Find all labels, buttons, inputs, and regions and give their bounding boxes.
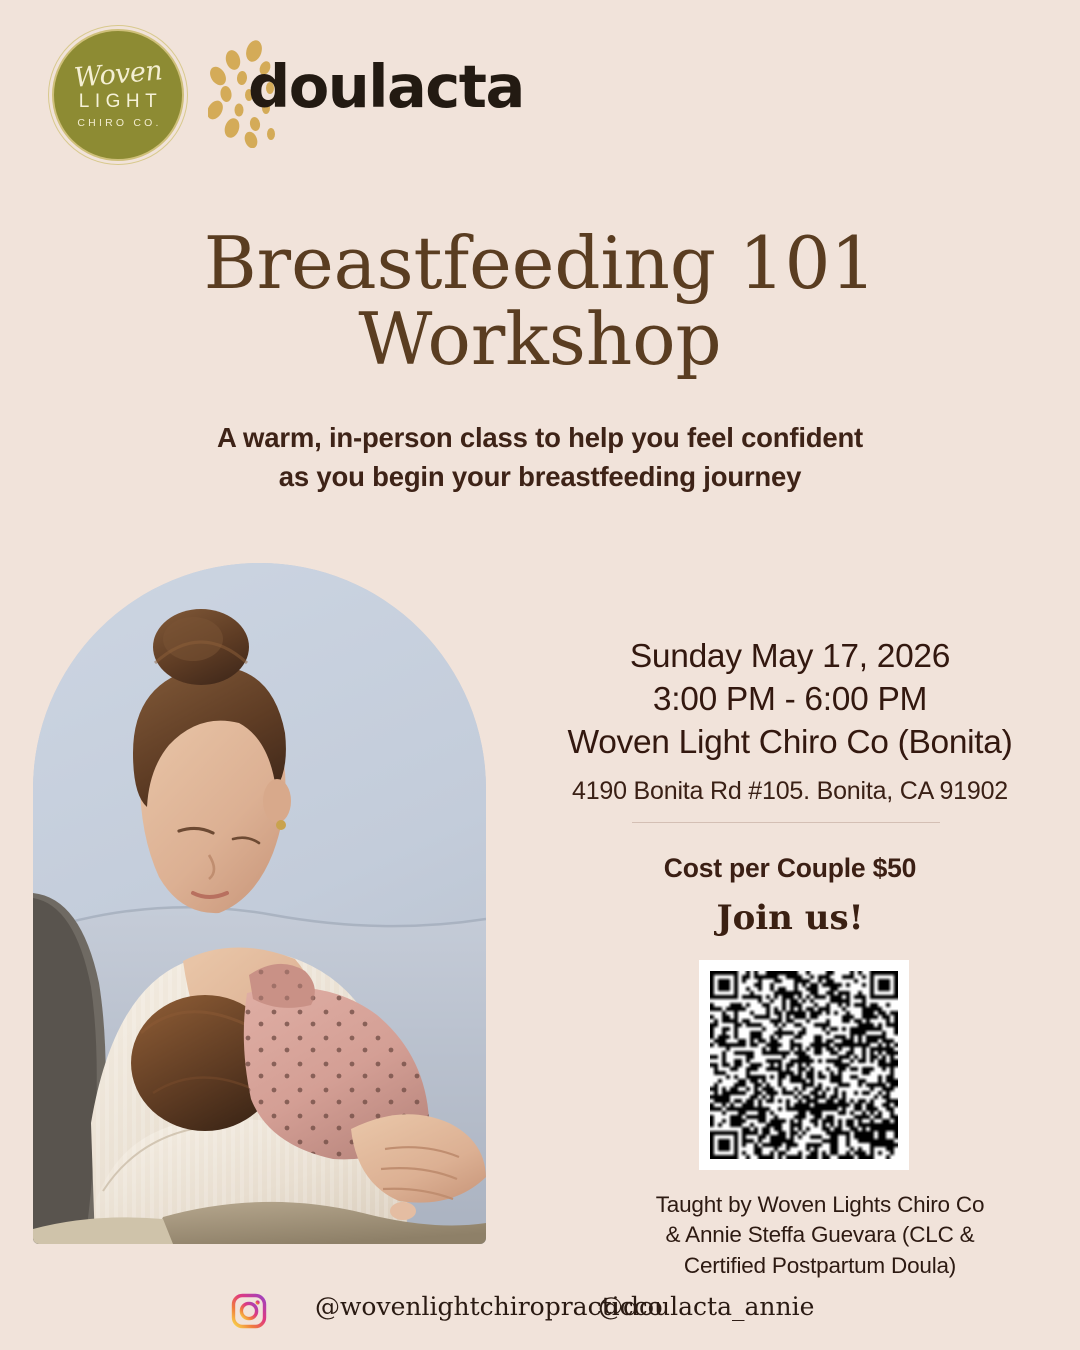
header: Woven LIGHT CHIRO CO.: [0, 0, 1080, 185]
instagram-handle-doulacta[interactable]: @doulacta_annie: [598, 1292, 814, 1321]
cost-label: Cost per Couple $50: [560, 853, 1020, 884]
title-line-1: Breastfeeding 101: [0, 226, 1080, 302]
flyer-root: Woven LIGHT CHIRO CO.: [0, 0, 1080, 1350]
credits-line-2: & Annie Steffa Guevara (CLC &: [600, 1220, 1040, 1250]
qr-code-canvas[interactable]: [710, 971, 898, 1159]
credits-line-3: Certified Postpartum Doula): [600, 1251, 1040, 1281]
hero-photo: [33, 563, 486, 1244]
qr-code[interactable]: [699, 960, 909, 1170]
event-time: 3:00 PM - 6:00 PM: [560, 679, 1020, 722]
event-venue: Woven Light Chiro Co (Bonita): [560, 722, 1020, 765]
subtitle-line-1: A warm, in-person class to help you feel…: [0, 418, 1080, 457]
event-date: Sunday May 17, 2026: [560, 636, 1020, 679]
title-line-2: Workshop: [0, 302, 1080, 378]
logo-light-text: LIGHT: [74, 92, 162, 111]
join-us-cta: Join us!: [560, 898, 1020, 938]
event-address: 4190 Bonita Rd #105. Bonita, CA 91902: [560, 777, 1020, 806]
section-divider: [632, 822, 940, 823]
page-title: Breastfeeding 101 Workshop: [0, 226, 1080, 377]
subtitle-line-2: as you begin your breastfeeding journey: [0, 457, 1080, 496]
hero-photo-illustration: [33, 563, 486, 1244]
doulacta-wordmark: doulacta: [248, 57, 524, 116]
woven-light-chiro-co-circle-logo: Woven LIGHT CHIRO CO.: [52, 29, 184, 161]
subtitle: A warm, in-person class to help you feel…: [0, 418, 1080, 496]
instagram-icon[interactable]: [231, 1293, 267, 1329]
logo-script-text: Woven: [73, 57, 163, 92]
event-details: Sunday May 17, 2026 3:00 PM - 6:00 PM Wo…: [560, 636, 1020, 806]
credits: Taught by Woven Lights Chiro Co & Annie …: [600, 1190, 1040, 1281]
logo-chiro-text: CHIRO CO.: [74, 118, 161, 129]
credits-line-1: Taught by Woven Lights Chiro Co: [600, 1190, 1040, 1220]
